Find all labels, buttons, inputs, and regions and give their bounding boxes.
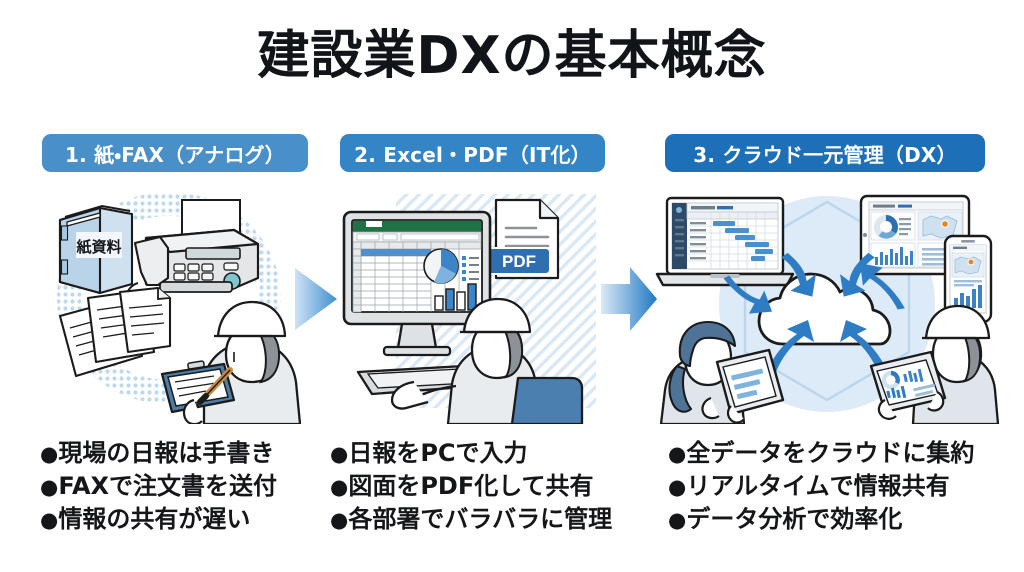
list-item-label: 図面をPDF化して共有 [348,472,593,500]
arrow-triangle [295,268,337,330]
pie-chart [424,249,458,283]
step-badge-2-label: 2. Excel・PDF（IT化） [354,139,591,168]
bullet-marker: ● [40,508,58,532]
list-item: ●データ分析で効率化 [668,503,998,536]
list-item: ●日報をPCで入力 [330,437,640,470]
bullet-marker: ● [40,442,58,466]
list-item: ●リアルタイムで情報共有 [668,470,998,503]
paper-fax-illustration: 紙資料 [34,186,304,424]
laptop-gantt-icon [657,198,793,285]
step-arrow-2-to-3 [600,262,658,336]
pdf-document-icon: PDF [488,200,558,278]
step-badge-1-label: 1. 紙・FAX（アナログ） [65,139,285,168]
step-3-bullet-list: ●全データをクラウドに集約 ●リアルタイムで情報共有 ●データ分析で効率化 [668,437,998,536]
step-badge-2: 2. Excel・PDF（IT化） [340,134,605,172]
step-badge-3-label: 3. クラウド一元管理（DX） [693,139,957,168]
worker-with-clipboard-icon [162,302,300,424]
list-item: ●情報の共有が遅い [40,503,340,536]
list-item-label: リアルタイムで情報共有 [686,472,949,500]
bullet-marker: ● [330,475,348,499]
list-item: ●FAXで注文書を送付 [40,470,340,503]
bullet-marker: ● [668,442,686,466]
list-item-label: 情報の共有が遅い [58,505,250,533]
page-title: 建設業DXの基本概念 [0,28,1024,85]
list-item-label: 全データをクラウドに集約 [686,439,974,467]
paper-binder-icon: 紙資料 [60,206,132,293]
cloud-management-illustration [655,186,1000,424]
list-item-label: 現場の日報は手書き [58,439,274,467]
list-item: ●図面をPDF化して共有 [330,470,640,503]
list-item: ●現場の日報は手書き [40,437,340,470]
list-item: ●各部署でバラバラに管理 [330,503,640,536]
step-badge-3: 3. クラウド一元管理（DX） [665,134,985,172]
step-2-bullet-list: ●日報をPCで入力 ●図面をPDF化して共有 ●各部署でバラバラに管理 [330,437,640,536]
bullet-marker: ● [330,442,348,466]
excel-pdf-illustration: PDF [336,186,602,424]
bullet-marker: ● [40,475,58,499]
bullet-marker: ● [668,508,686,532]
step-arrow-1-to-2 [293,262,339,336]
arrow-block [601,267,657,331]
bullet-marker: ● [330,508,348,532]
step-1-bullet-list: ●現場の日報は手書き ●FAXで注文書を送付 ●情報の共有が遅い [40,437,340,536]
binder-label: 紙資料 [76,238,121,256]
list-item-label: 各部署でバラバラに管理 [348,505,612,533]
pdf-label: PDF [502,252,536,271]
list-item-label: 日報をPCで入力 [348,439,527,467]
bullet-marker: ● [668,475,686,499]
step-badge-1: 1. 紙・FAX（アナログ） [42,134,308,172]
slide-canvas: 建設業DXの基本概念 1. 紙・FAX（アナログ） 2. Excel・PDF（I… [0,0,1024,572]
list-item: ●全データをクラウドに集約 [668,437,998,470]
list-item-label: データ分析で効率化 [686,505,902,533]
list-item-label: FAXで注文書を送付 [58,472,277,500]
